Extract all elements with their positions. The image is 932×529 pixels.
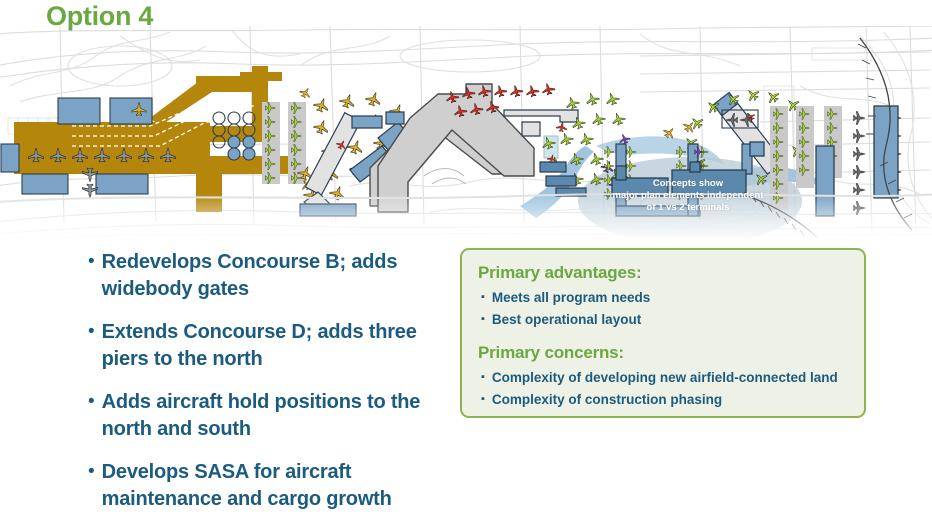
- square-bullet-icon: ▪: [481, 288, 485, 307]
- concern-item-label: Complexity of developing new airfield-co…: [492, 368, 838, 387]
- list-item-label: Redevelops Concourse B; adds widebody ga…: [102, 249, 438, 303]
- list-item-label: Adds aircraft hold positions to the nort…: [102, 389, 438, 443]
- advantage-item-label: Best operational layout: [492, 310, 641, 329]
- square-bullet-icon: ▪: [481, 310, 485, 329]
- list-item: • Extends Concourse D; adds three piers …: [88, 319, 438, 373]
- list-item-label: Extends Concourse D; adds three piers to…: [102, 319, 438, 373]
- option-features-list: • Redevelops Concourse B; adds widebody …: [88, 249, 438, 529]
- airport-master-plan-map: Concepts show major plan elements indepe…: [0, 26, 932, 241]
- advantage-item-label: Meets all program needs: [492, 288, 650, 307]
- list-item: • Redevelops Concourse B; adds widebody …: [88, 249, 438, 303]
- page-title: Option 4: [46, 1, 153, 32]
- advantages-concerns-panel: Primary advantages: ▪ Meets all program …: [460, 248, 866, 418]
- square-bullet-icon: ▪: [481, 368, 485, 387]
- bullet-marker-icon: •: [88, 459, 95, 484]
- primary-advantages-heading: Primary advantages:: [478, 263, 848, 283]
- list-item: • Adds aircraft hold positions to the no…: [88, 389, 438, 443]
- advantage-item: ▪ Best operational layout: [478, 310, 848, 329]
- advantage-item: ▪ Meets all program needs: [478, 288, 848, 307]
- slide-root: Option 4: [0, 0, 932, 514]
- concern-item-label: Complexity of construction phasing: [492, 390, 722, 409]
- primary-concerns-heading: Primary concerns:: [478, 343, 848, 363]
- bullet-marker-icon: •: [88, 319, 95, 344]
- concern-item: ▪ Complexity of construction phasing: [478, 390, 848, 409]
- concern-item: ▪ Complexity of developing new airfield-…: [478, 368, 848, 387]
- list-item: • Develops SASA for aircraft maintenance…: [88, 459, 438, 513]
- bullet-marker-icon: •: [88, 389, 95, 414]
- square-bullet-icon: ▪: [481, 390, 485, 409]
- bullet-marker-icon: •: [88, 249, 95, 274]
- list-item-label: Develops SASA for aircraft maintenance a…: [102, 459, 438, 513]
